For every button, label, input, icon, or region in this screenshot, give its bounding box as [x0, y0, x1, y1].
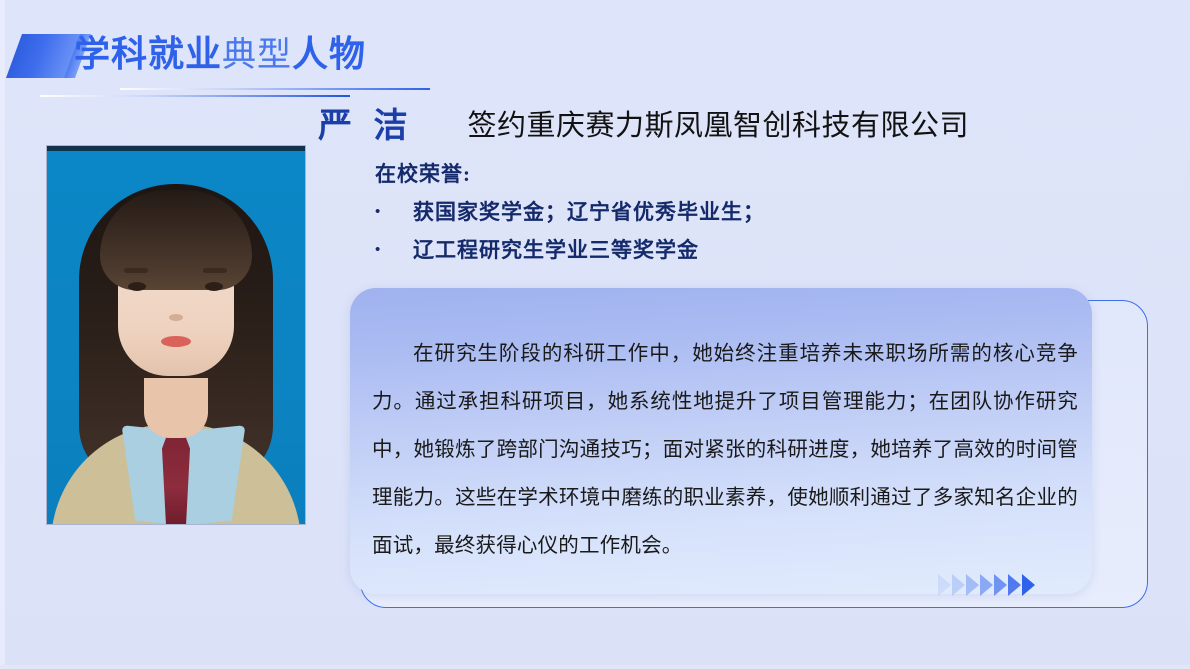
chevron-icon [966, 574, 979, 596]
name-and-company-row: 严 洁签约重庆赛力斯凤凰智创科技有限公司 [318, 98, 969, 148]
honors-section: 在校荣誉: • 获国家奖学金；辽宁省优秀毕业生； • 辽工程研究生学业三等奖学金 [375, 158, 1075, 276]
slide-root: 学科就业典型人物 严 洁签约重庆赛力斯凤凰智创科技有限公司 在校荣誉: • 获国… [0, 0, 1190, 669]
page-title-part-3: 人物 [292, 33, 366, 74]
bullet-icon: • [375, 200, 413, 224]
portrait-hair-bangs [100, 190, 252, 290]
honors-item-text: 获国家奖学金；辽宁省优秀毕业生； [413, 200, 765, 224]
chevron-icon [980, 574, 993, 596]
portrait-necktie [162, 432, 190, 524]
bullet-icon: • [375, 238, 413, 262]
slide-header: 学科就业典型人物 [0, 22, 1190, 102]
page-title-part-1: 学科就业 [74, 33, 222, 74]
honors-list-item: • 获国家奖学金；辽宁省优秀毕业生； [375, 200, 1075, 224]
quote-text: 在研究生阶段的科研工作中，她始终注重培养未来职场所需的核心竞争力。通过承担科研项… [372, 330, 1078, 570]
page-title: 学科就业典型人物 [74, 26, 366, 84]
portrait-eye-left [128, 282, 146, 291]
portrait-eyebrow-right [203, 268, 227, 273]
portrait-eyebrow-left [124, 268, 148, 273]
portrait-mouth [161, 336, 191, 347]
chevron-icon [994, 574, 1007, 596]
bottom-edge-strip [0, 665, 1190, 669]
chevron-icon [1008, 574, 1021, 596]
chevron-icon [952, 574, 965, 596]
page-title-part-2: 典型 [222, 37, 292, 74]
honors-heading: 在校荣誉: [375, 158, 1075, 188]
chevrons-right-icon [938, 570, 1108, 600]
chevron-icon [1022, 574, 1035, 596]
company-signed: 签约重庆赛力斯凤凰智创科技有限公司 [467, 102, 969, 144]
portrait-nose [169, 314, 183, 321]
honors-list-item: • 辽工程研究生学业三等奖学金 [375, 238, 1075, 262]
portrait-eye-right [205, 282, 223, 291]
chevron-icon [938, 574, 951, 596]
portrait-neck [144, 378, 208, 438]
header-divider-top [120, 88, 430, 90]
profile-photo [47, 146, 305, 524]
header-divider-bottom [40, 95, 350, 97]
person-name: 严 洁 [318, 98, 413, 147]
honors-item-text: 辽工程研究生学业三等奖学金 [413, 238, 699, 262]
